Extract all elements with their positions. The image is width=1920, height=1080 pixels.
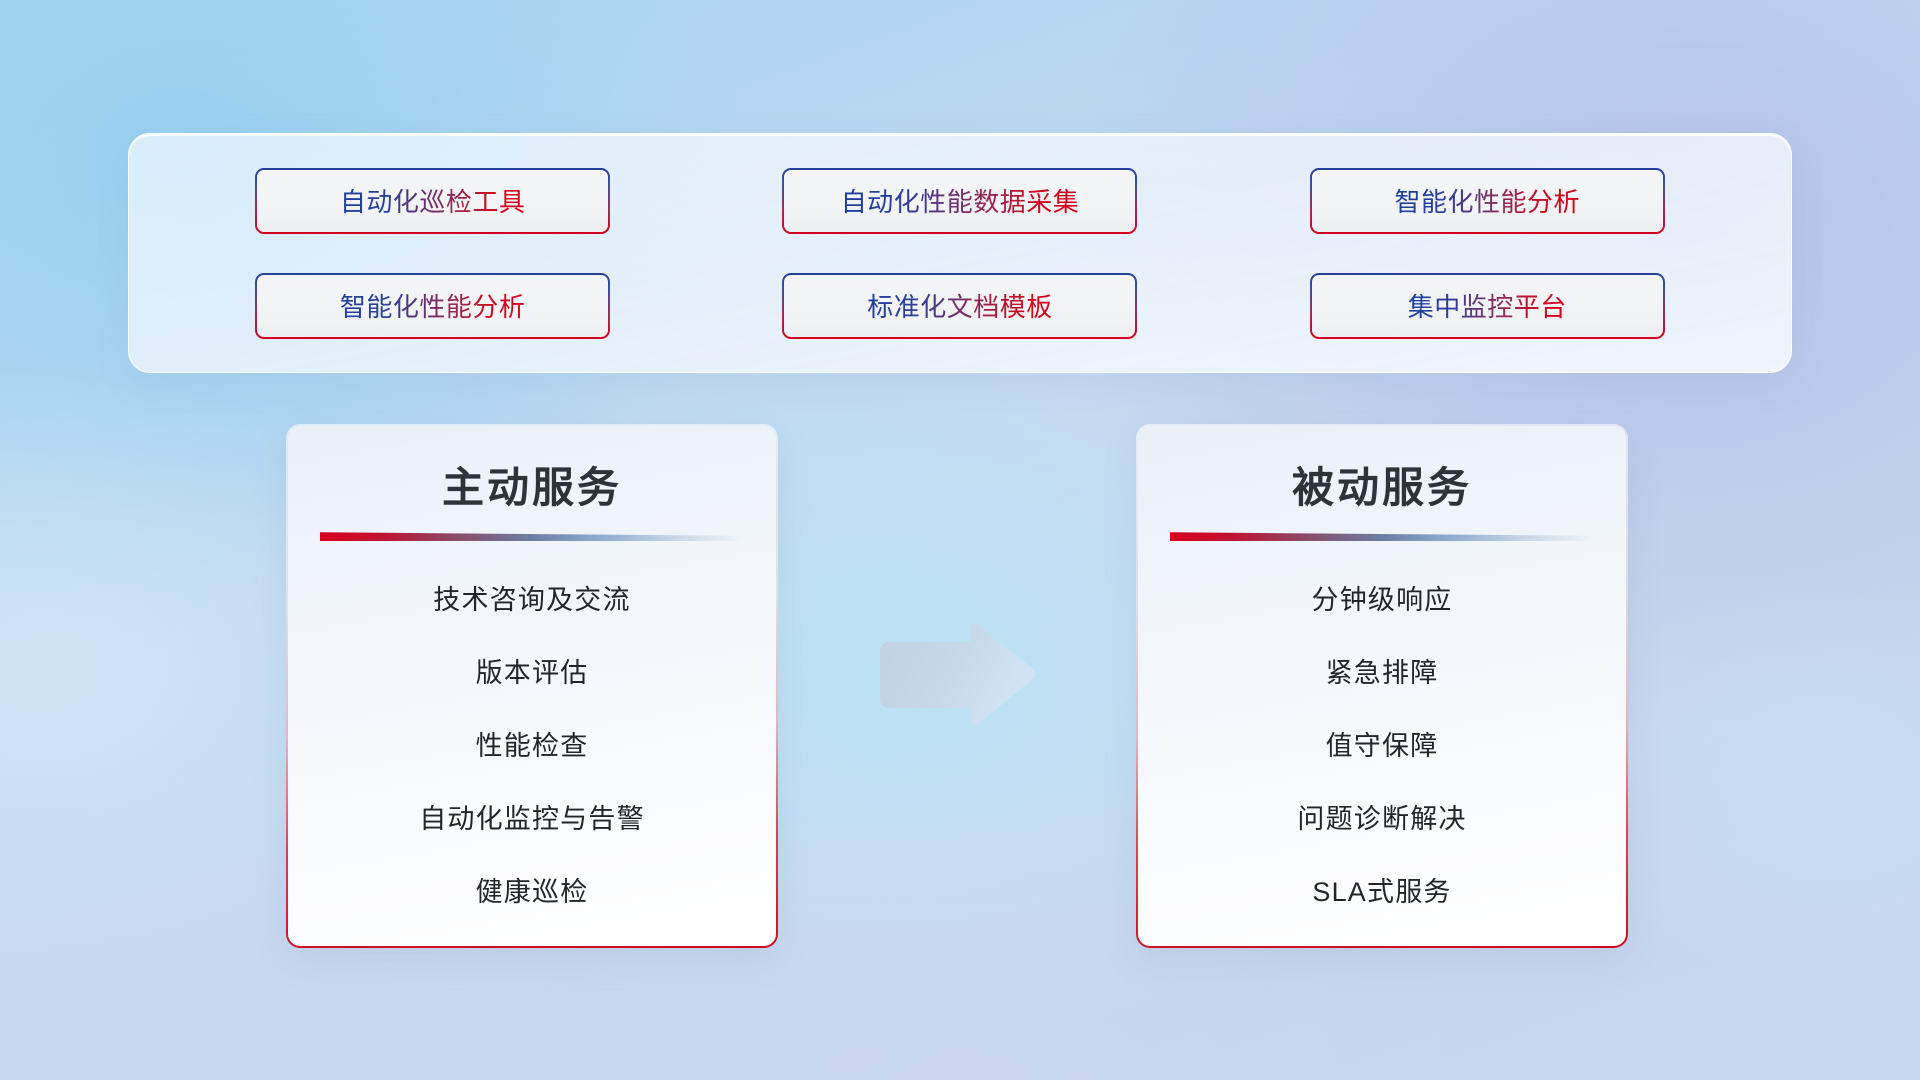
service-list-item[interactable]: 分钟级响应: [1312, 573, 1453, 628]
capability-tag-label: 标准化文档模板: [867, 287, 1053, 324]
capability-tag-label: 智能化性能分析: [340, 287, 526, 324]
capability-tag-intelligent-performance-analysis-top[interactable]: 智能化性能分析: [1310, 168, 1665, 234]
service-card-title: 主动服务: [442, 464, 622, 512]
title-underline-gradient: [1170, 532, 1594, 541]
right-arrow-icon: [874, 622, 1038, 728]
capability-tag-standardized-document-template[interactable]: 标准化文档模板: [782, 273, 1137, 339]
capability-tag-automated-inspection-tool[interactable]: 自动化巡检工具: [255, 168, 610, 234]
capability-tag-automated-performance-data-collection[interactable]: 自动化性能数据采集: [782, 168, 1137, 234]
service-list-item[interactable]: SLA式服务: [1312, 865, 1451, 920]
capability-tag-intelligent-performance-analysis-bottom[interactable]: 智能化性能分析: [255, 273, 610, 339]
service-card-title: 被动服务: [1292, 464, 1472, 512]
capability-tag-surface: 自动化巡检工具: [257, 170, 608, 232]
service-card-surface: 被动服务 分钟级响应 紧急排障 值守保障 问题诊断解决 SLA式服务: [1138, 426, 1626, 946]
service-list-item[interactable]: 性能检查: [476, 719, 589, 774]
capability-tag-centralized-monitoring-platform[interactable]: 集中监控平台: [1310, 273, 1665, 339]
service-list-item[interactable]: 自动化监控与告警: [419, 792, 645, 847]
service-card-proactive[interactable]: 主动服务 技术咨询及交流 版本评估 性能检查 自动化监控与告警 健康巡检: [286, 424, 778, 948]
service-card-surface: 主动服务 技术咨询及交流 版本评估 性能检查 自动化监控与告警 健康巡检: [288, 426, 776, 946]
service-list-item[interactable]: 紧急排障: [1326, 646, 1439, 701]
service-list-item[interactable]: 值守保障: [1326, 719, 1439, 774]
service-list-item[interactable]: 版本评估: [476, 646, 589, 701]
capability-tag-label: 集中监控平台: [1408, 287, 1567, 324]
service-list-item[interactable]: 技术咨询及交流: [433, 573, 630, 628]
capability-tag-surface: 标准化文档模板: [784, 275, 1135, 337]
capability-tag-label: 自动化性能数据采集: [841, 182, 1080, 219]
capability-tags-panel: 自动化巡检工具 自动化性能数据采集 智能化性能分析 智能化性能分析 标准化文档模…: [128, 133, 1792, 373]
capability-tag-label: 智能化性能分析: [1395, 182, 1581, 219]
service-list-item[interactable]: 健康巡检: [476, 865, 589, 920]
capability-tag-surface: 智能化性能分析: [1312, 170, 1663, 232]
capability-tag-surface: 智能化性能分析: [257, 275, 608, 337]
service-list-item[interactable]: 问题诊断解决: [1297, 792, 1466, 847]
capability-tag-label: 自动化巡检工具: [340, 182, 526, 219]
service-item-list: 分钟级响应 紧急排障 值守保障 问题诊断解决 SLA式服务: [1172, 573, 1592, 920]
capability-tag-surface: 自动化性能数据采集: [784, 170, 1135, 232]
service-card-reactive[interactable]: 被动服务 分钟级响应 紧急排障 值守保障 问题诊断解决 SLA式服务: [1136, 424, 1628, 948]
capability-tag-surface: 集中监控平台: [1312, 275, 1663, 337]
service-item-list: 技术咨询及交流 版本评估 性能检查 自动化监控与告警 健康巡检: [322, 573, 742, 920]
title-underline-gradient: [320, 532, 744, 541]
